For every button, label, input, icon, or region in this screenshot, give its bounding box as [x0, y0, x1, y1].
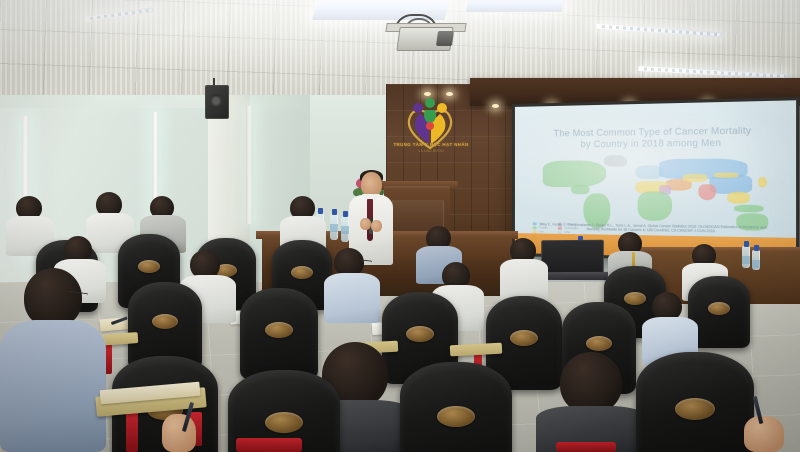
map-region-subsaharan-africa — [638, 191, 672, 221]
seat-cushion — [556, 442, 616, 452]
seat-badge — [510, 330, 538, 346]
seat-cushion — [236, 438, 302, 452]
hand — [744, 416, 784, 452]
hand — [162, 414, 196, 452]
auditorium-seat[interactable] — [400, 362, 512, 452]
bottle-label — [742, 256, 750, 264]
institution-name: TRUNG TÂM Y HỌC HẠT NHÂN — [390, 142, 472, 147]
map-region-greenland — [604, 155, 627, 167]
projection-screen-surface: The Most Common Type of Cancer Mortality… — [515, 100, 796, 259]
map-region-india — [698, 184, 716, 200]
seat-badge — [675, 398, 715, 420]
presenter-hand — [360, 218, 371, 230]
water-bottle — [330, 214, 338, 240]
seat-badge — [152, 314, 178, 329]
map-region-north-america — [543, 160, 606, 187]
seat-badge — [265, 412, 303, 433]
auditorium-seat[interactable] — [636, 352, 754, 452]
map-region-central-asia — [683, 174, 707, 183]
map-region-central-america — [571, 185, 589, 194]
seat-badge — [437, 406, 475, 427]
auditorium-seat[interactable] — [240, 288, 318, 380]
torso — [500, 259, 548, 301]
map-region-japan — [758, 177, 767, 188]
projector-lens — [436, 31, 454, 46]
water-bottle — [752, 250, 760, 270]
map-region-mongolia — [714, 172, 739, 177]
presenter-head — [361, 172, 382, 197]
seat-badge — [406, 326, 434, 342]
bottle-label — [330, 224, 338, 232]
map-region-southeast-asia — [727, 192, 750, 204]
head — [560, 352, 622, 414]
slide-title: The Most Common Type of Cancer Mortality… — [515, 124, 796, 151]
bottle-label — [341, 226, 349, 234]
laptop-screen[interactable] — [541, 240, 604, 277]
ceiling-panel-light — [466, 0, 566, 12]
water-bottle — [742, 246, 750, 268]
projection-screen: The Most Common Type of Cancer Mortality… — [512, 97, 800, 263]
torso — [0, 320, 106, 452]
wall-vertical-light — [246, 106, 253, 224]
map-region-indonesia — [734, 205, 764, 213]
recessed-downlight — [492, 104, 499, 108]
head — [24, 268, 82, 328]
lecture-room-photo: TRUNG TÂM Y HỌC HẠT NHÂN VÀ UNG BƯỚU The… — [0, 0, 800, 452]
water-bottle — [341, 216, 349, 242]
institution-subname: VÀ UNG BƯỚU — [390, 149, 472, 153]
bottle-label — [752, 260, 760, 268]
seat-badge — [708, 302, 730, 315]
seat-badge — [265, 322, 293, 338]
seat-badge — [291, 266, 313, 279]
seat-badge — [138, 260, 160, 273]
wall-speaker — [205, 85, 229, 119]
presenter-hand — [371, 220, 382, 232]
torso — [324, 273, 380, 323]
tablet-arm-support — [126, 412, 138, 452]
seat-badge — [586, 336, 612, 351]
